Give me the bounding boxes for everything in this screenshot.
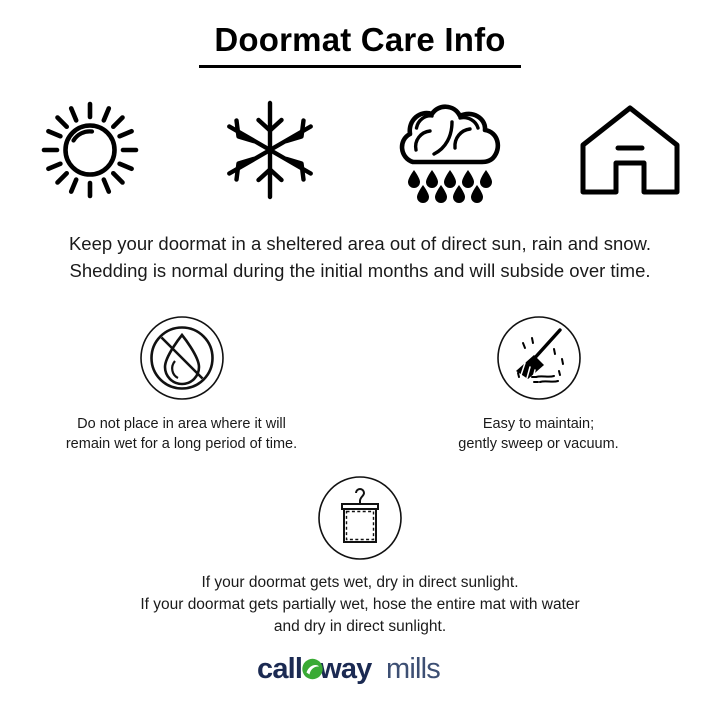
dry-instructions-caption: If your doormat gets wet, dry in direct … — [140, 572, 579, 638]
care-caption-line-2: remain wet for a long period of time. — [66, 434, 297, 454]
dry-instructions-section: If your doormat gets wet, dry in direct … — [0, 472, 720, 638]
weather-icon-cell-rain-cloud — [360, 96, 540, 208]
care-item-no-water: Do not place in area where it will remai… — [3, 312, 360, 454]
weather-icon-cell-house — [540, 96, 720, 208]
care-item-broom-caption: Easy to maintain; gently sweep or vacuum… — [458, 414, 618, 454]
weather-icon-row — [0, 96, 720, 208]
care-caption-line-1: Easy to maintain; — [458, 414, 618, 434]
weather-icon-cell-sun — [0, 96, 180, 208]
doormat-care-info-page: Doormat Care Info — [0, 0, 720, 720]
main-paragraph: Keep your doormat in a sheltered area ou… — [0, 230, 720, 284]
house-icon — [576, 102, 684, 203]
weather-icon-cell-snowflake — [180, 96, 360, 208]
dry-caption-line-3: and dry in direct sunlight. — [140, 616, 579, 638]
care-caption-line-1: Do not place in area where it will — [66, 414, 297, 434]
page-title: Doormat Care Info — [0, 22, 720, 58]
care-caption-line-2: gently sweep or vacuum. — [458, 434, 618, 454]
main-paragraph-line-2: Shedding is normal during the initial mo… — [0, 257, 720, 284]
logo-leaf-mark — [302, 659, 322, 679]
care-items-row: Do not place in area where it will remai… — [0, 312, 720, 454]
care-item-no-water-caption: Do not place in area where it will remai… — [66, 414, 297, 454]
snowflake-icon — [220, 98, 320, 207]
logo-secondary-text: mills — [386, 653, 440, 685]
page-header: Doormat Care Info — [0, 22, 720, 68]
main-paragraph-line-1: Keep your doormat in a sheltered area ou… — [0, 230, 720, 257]
hanging-mat-icon — [317, 472, 403, 564]
no-water-icon — [139, 312, 225, 404]
rain-cloud-icon — [390, 96, 510, 209]
calloway-mills-logo: calloway mills — [0, 652, 720, 686]
sun-icon — [40, 100, 140, 205]
broom-icon — [496, 312, 582, 404]
dry-caption-line-2: If your doormat gets partially wet, hose… — [140, 594, 579, 616]
care-item-broom: Easy to maintain; gently sweep or vacuum… — [360, 312, 717, 454]
dry-caption-line-1: If your doormat gets wet, dry in direct … — [140, 572, 579, 594]
title-underline-rule — [199, 65, 521, 68]
